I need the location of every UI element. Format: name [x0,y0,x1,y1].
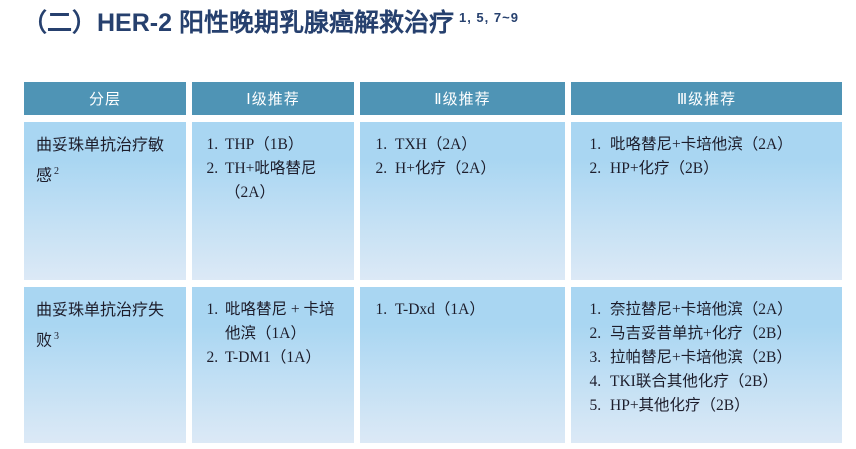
list-item: 吡咯替尼+卡培他滨（2A） [605,133,834,157]
list-item: 奈拉替尼+卡培他滨（2A） [605,298,834,322]
page-title: （二）HER-2 阳性晚期乳腺癌解救治疗 1, 5, 7~9 [22,6,519,40]
cell-level1-recommendations: 吡咯替尼 + 卡培他滨（1A） T-DM1（1A） [192,287,354,443]
list-item: TXH（2A） [391,133,557,157]
list-item: 拉帕替尼+卡培他滨（2B） [605,346,834,370]
recommendation-list: THP（1B） TH+吡咯替尼（2A） [202,133,346,205]
page-title-text: （二）HER-2 阳性晚期乳腺癌解救治疗 [22,6,454,40]
table-row: 曲妥珠单抗治疗敏感2 THP（1B） TH+吡咯替尼（2A） TXH（2A） H… [24,122,838,280]
page-root: （二）HER-2 阳性晚期乳腺癌解救治疗 1, 5, 7~9 分层 Ⅰ级推荐 Ⅱ… [0,0,856,449]
recommendation-list: T-Dxd（1A） [370,298,557,322]
list-item: T-Dxd（1A） [391,298,557,322]
recommendation-table: 分层 Ⅰ级推荐 Ⅱ级推荐 Ⅲ级推荐 曲妥珠单抗治疗敏感2 THP（1B） TH+… [24,82,838,443]
list-item: TH+吡咯替尼（2A） [222,157,346,205]
list-item: 马吉妥昔单抗+化疗（2B） [605,322,834,346]
table-header-level3: Ⅲ级推荐 [571,82,842,115]
stratum-label: 曲妥珠单抗治疗失败3 [36,298,178,354]
list-item: T-DM1（1A） [222,346,346,370]
stratum-footnote-marker: 2 [54,166,59,177]
list-item: TKI联合其他化疗（2B） [605,370,834,394]
list-item: HP+其他化疗（2B） [605,394,834,418]
recommendation-list: 奈拉替尼+卡培他滨（2A） 马吉妥昔单抗+化疗（2B） 拉帕替尼+卡培他滨（2B… [581,298,834,418]
table-row: 曲妥珠单抗治疗失败3 吡咯替尼 + 卡培他滨（1A） T-DM1（1A） T-D… [24,287,838,443]
cell-level2-recommendations: T-Dxd（1A） [360,287,565,443]
recommendation-list: TXH（2A） H+化疗（2A） [370,133,557,181]
list-item: H+化疗（2A） [391,157,557,181]
list-item: THP（1B） [222,133,346,157]
page-title-superscript: 1, 5, 7~9 [459,11,519,24]
table-header-level1: Ⅰ级推荐 [192,82,354,115]
recommendation-list: 吡咯替尼+卡培他滨（2A） HP+化疗（2B） [581,133,834,181]
stratum-label: 曲妥珠单抗治疗敏感2 [36,133,178,189]
list-item: HP+化疗（2B） [605,157,834,181]
table-header-row: 分层 Ⅰ级推荐 Ⅱ级推荐 Ⅲ级推荐 [24,82,838,115]
cell-level3-recommendations: 奈拉替尼+卡培他滨（2A） 马吉妥昔单抗+化疗（2B） 拉帕替尼+卡培他滨（2B… [571,287,842,443]
table-header-stratum: 分层 [24,82,186,115]
cell-stratum: 曲妥珠单抗治疗敏感2 [24,122,186,280]
cell-level2-recommendations: TXH（2A） H+化疗（2A） [360,122,565,280]
table-header-level2: Ⅱ级推荐 [360,82,565,115]
stratum-footnote-marker: 3 [54,331,59,342]
cell-stratum: 曲妥珠单抗治疗失败3 [24,287,186,443]
list-item: 吡咯替尼 + 卡培他滨（1A） [222,298,346,346]
recommendation-list: 吡咯替尼 + 卡培他滨（1A） T-DM1（1A） [202,298,346,370]
cell-level1-recommendations: THP（1B） TH+吡咯替尼（2A） [192,122,354,280]
cell-level3-recommendations: 吡咯替尼+卡培他滨（2A） HP+化疗（2B） [571,122,842,280]
